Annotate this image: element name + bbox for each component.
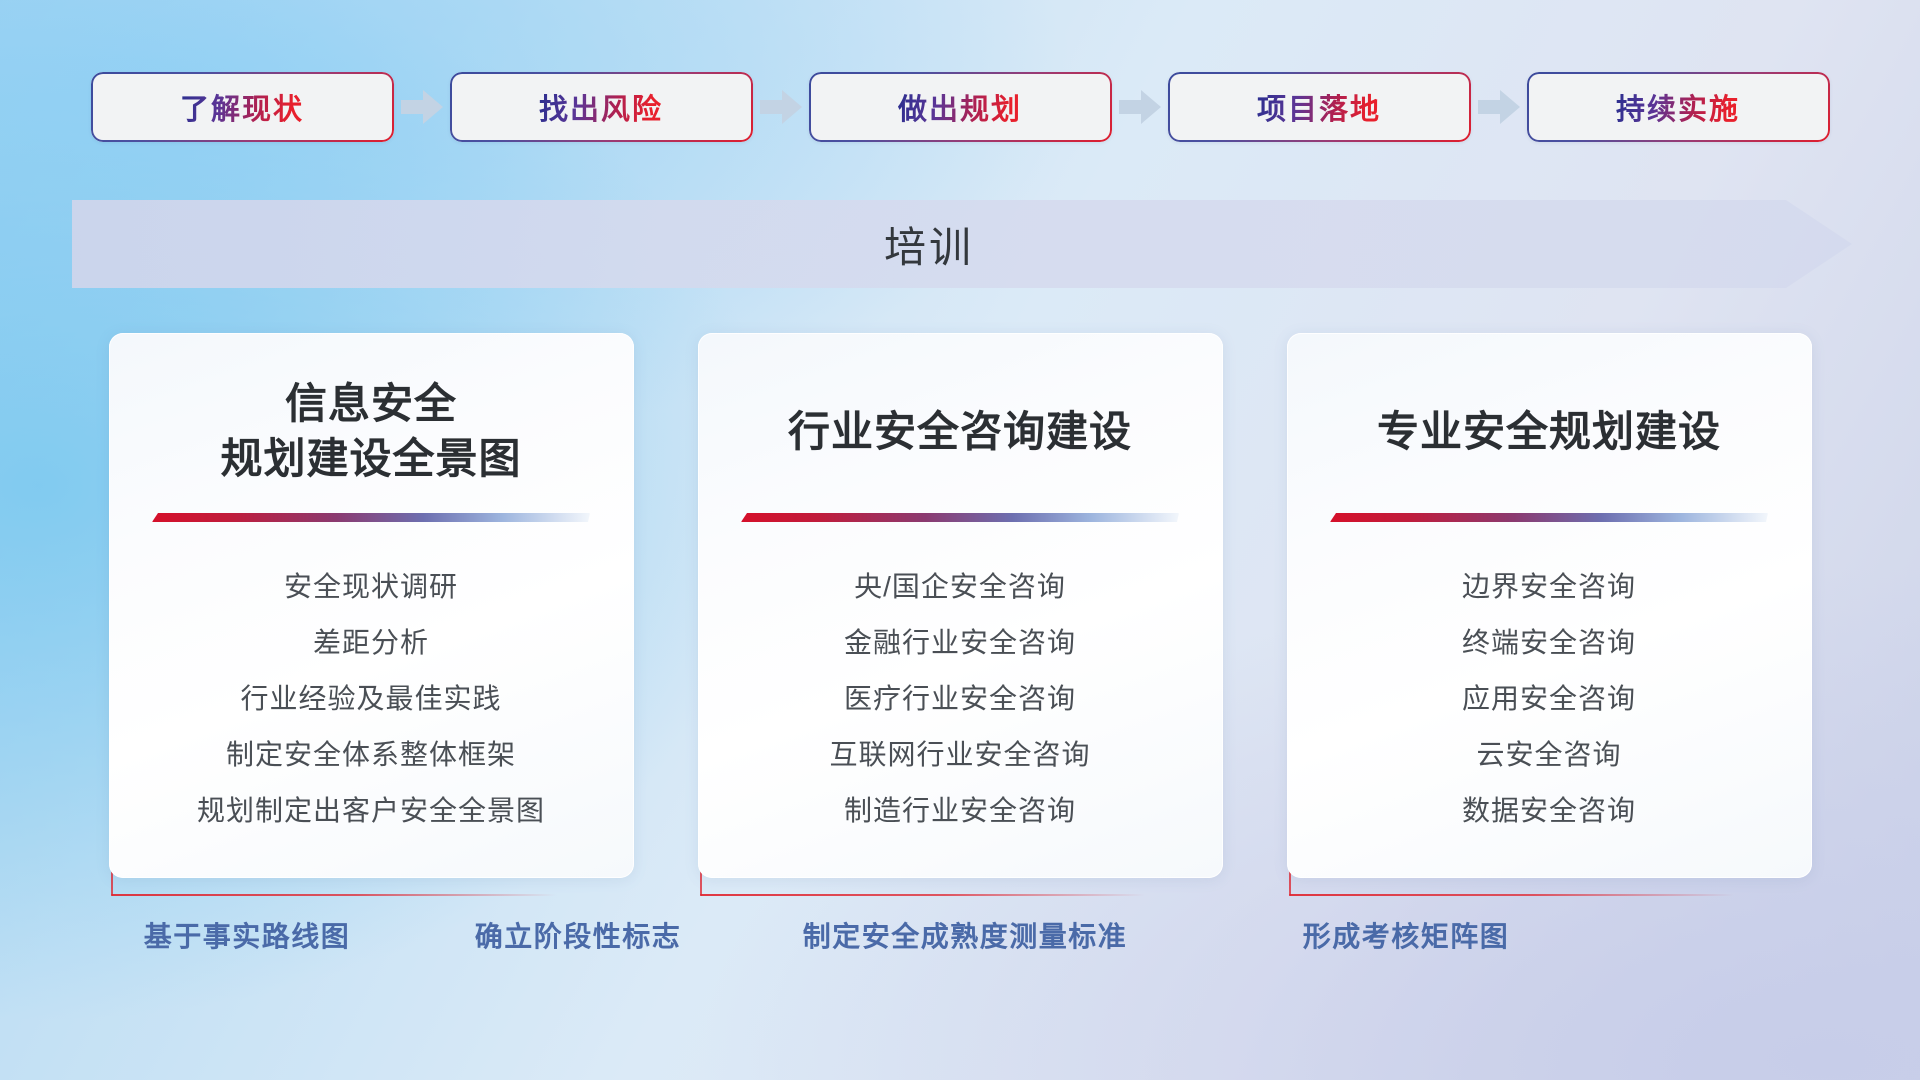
list-item: 行业经验及最佳实践 [240, 678, 501, 720]
card-accent-rule [152, 513, 590, 522]
card-accent-rule [1330, 513, 1768, 522]
card-3[interactable]: 专业安全规划建设 边界安全咨询 终端安全咨询 应用安全咨询 云安全咨询 数据安全… [1287, 333, 1812, 878]
footnote-4: 形成考核矩阵图 [1303, 915, 1510, 955]
card-row: 信息安全 规划建设全景图 安全现状调研 差距分析 行业经验及最佳实践 制定安全体… [0, 333, 1920, 878]
card-wrapper-1: 信息安全 规划建设全景图 安全现状调研 差距分析 行业经验及最佳实践 制定安全体… [109, 333, 634, 878]
card-wrapper-2: 行业安全咨询建设 央/国企安全咨询 金融行业安全咨询 医疗行业安全咨询 互联网行… [698, 333, 1223, 878]
card-item-list: 央/国企安全咨询 金融行业安全咨询 医疗行业安全咨询 互联网行业安全咨询 制造行… [728, 566, 1193, 832]
card-title: 专业安全规划建设 [1377, 377, 1721, 487]
footnote-row: 基于事实路线图 确立阶段性标志 制定安全成熟度测量标准 形成考核矩阵图 [0, 915, 1920, 975]
list-item: 云安全咨询 [1476, 734, 1621, 776]
card-2[interactable]: 行业安全咨询建设 央/国企安全咨询 金融行业安全咨询 医疗行业安全咨询 互联网行… [698, 333, 1223, 878]
list-item: 数据安全咨询 [1462, 790, 1636, 832]
card-wrapper-3: 专业安全规划建设 边界安全咨询 终端安全咨询 应用安全咨询 云安全咨询 数据安全… [1287, 333, 1812, 878]
list-item: 安全现状调研 [284, 566, 458, 608]
card-title-line: 行业安全咨询建设 [788, 405, 1132, 460]
step-label: 项目落地 [1257, 86, 1381, 128]
training-banner: 培训 [72, 200, 1852, 288]
list-item: 金融行业安全咨询 [844, 622, 1076, 664]
card-1[interactable]: 信息安全 规划建设全景图 安全现状调研 差距分析 行业经验及最佳实践 制定安全体… [109, 333, 634, 878]
step-label: 找出风险 [539, 86, 663, 128]
list-item: 差距分析 [313, 622, 429, 664]
footnote-1: 基于事实路线图 [144, 915, 351, 955]
card-title: 信息安全 规划建设全景图 [220, 377, 521, 487]
step-label: 持续实施 [1616, 86, 1740, 128]
list-item: 医疗行业安全咨询 [844, 678, 1076, 720]
process-step-row: 了解现状 找出风险 做出规划 项目落地 持续实施 [0, 72, 1920, 142]
step-arrow-icon-4 [1471, 90, 1527, 124]
step-label: 了解现状 [180, 86, 304, 128]
list-item: 应用安全咨询 [1462, 678, 1636, 720]
step-box-2[interactable]: 找出风险 [450, 72, 753, 142]
card-title-line: 专业安全规划建设 [1377, 405, 1721, 460]
list-item: 制造行业安全咨询 [844, 790, 1076, 832]
list-item: 央/国企安全咨询 [854, 566, 1066, 608]
step-arrow-icon-3 [1112, 90, 1168, 124]
card-item-list: 安全现状调研 差距分析 行业经验及最佳实践 制定安全体系整体框架 规划制定出客户… [139, 566, 604, 832]
list-item: 终端安全咨询 [1462, 622, 1636, 664]
step-box-3[interactable]: 做出规划 [809, 72, 1112, 142]
card-title-line: 规划建设全景图 [220, 432, 521, 487]
list-item: 互联网行业安全咨询 [829, 734, 1090, 776]
list-item: 规划制定出客户安全全景图 [197, 790, 545, 832]
card-accent-rule [741, 513, 1179, 522]
banner-title: 培训 [72, 200, 1786, 288]
step-arrow-icon-2 [753, 90, 809, 124]
step-arrow-icon-1 [394, 90, 450, 124]
step-box-4[interactable]: 项目落地 [1168, 72, 1471, 142]
footnote-3: 制定安全成熟度测量标准 [803, 915, 1128, 955]
step-label: 做出规划 [898, 86, 1022, 128]
list-item: 制定安全体系整体框架 [226, 734, 516, 776]
step-box-5[interactable]: 持续实施 [1527, 72, 1830, 142]
footnote-2: 确立阶段性标志 [475, 915, 682, 955]
step-box-1[interactable]: 了解现状 [91, 72, 394, 142]
list-item: 边界安全咨询 [1462, 566, 1636, 608]
card-item-list: 边界安全咨询 终端安全咨询 应用安全咨询 云安全咨询 数据安全咨询 [1317, 566, 1782, 832]
card-title: 行业安全咨询建设 [788, 377, 1132, 487]
card-title-line: 信息安全 [285, 377, 457, 432]
